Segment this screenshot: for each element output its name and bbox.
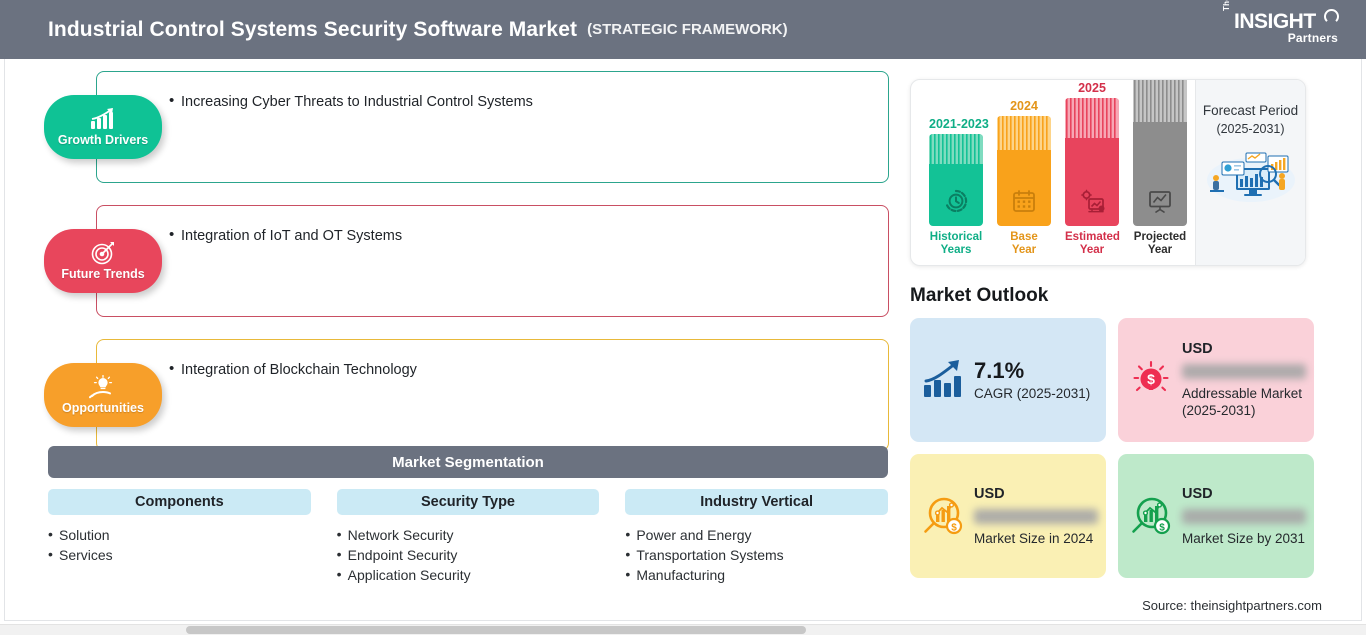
- cagr-value: 7.1%: [974, 359, 1096, 383]
- driver-row-growth: Increasing Cyber Threats to Industrial C…: [44, 71, 889, 183]
- bar-estimated-year: 2025: [1065, 81, 1119, 257]
- bar-body: [997, 116, 1051, 226]
- bar-chart-arrow-up-icon: [89, 107, 117, 131]
- forecast-period-chart: 2021-2023: [910, 79, 1306, 266]
- list-item: Integration of Blockchain Technology: [169, 360, 872, 380]
- analytics-illustration: [1202, 146, 1300, 204]
- card-caption: Market Size by 2031: [1182, 530, 1306, 547]
- driver-row-trends: Integration of IoT and OT Systems Future…: [44, 205, 889, 317]
- outlook-card-body: USD lorem ipsum Market Size in 2024: [974, 486, 1098, 547]
- bar-stripe-pattern: [1133, 79, 1187, 122]
- segmentation-chip[interactable]: Security Type: [337, 489, 600, 515]
- bar-caption: Base Year: [997, 231, 1051, 257]
- segmentation-column-industry-vertical: Industry Vertical Power and Energy Trans…: [625, 489, 888, 585]
- strategic-framework-column: Increasing Cyber Threats to Industrial C…: [44, 71, 889, 473]
- outlook-card-cagr[interactable]: 7.1% CAGR (2025-2031): [910, 318, 1106, 442]
- hidden-value: lorem ipsum: [1182, 509, 1306, 524]
- bar-year-label: 2024: [997, 99, 1051, 113]
- page-header: Industrial Control Systems Security Soft…: [0, 0, 1366, 59]
- currency-label: USD: [974, 486, 1098, 502]
- svg-text:$: $: [1159, 523, 1165, 534]
- opportunities-box: Integration of Blockchain Technology: [96, 339, 889, 451]
- bar-base-year: 2024: [997, 99, 1051, 257]
- page-subtitle: (STRATEGIC FRAMEWORK): [587, 21, 788, 38]
- bar-year-label: 2025: [1065, 81, 1119, 95]
- magnifier-chart-dollar-icon: $: [920, 493, 966, 539]
- outlook-card-addressable-market[interactable]: $ USD lorem ipsum Addressable Market (20…: [1118, 318, 1314, 442]
- magnifier-chart-dollar-icon: $: [1128, 493, 1174, 539]
- list-item: Manufacturing: [625, 565, 888, 585]
- currency-label: USD: [1182, 486, 1306, 502]
- driver-row-opportunities: Integration of Blockchain Technology: [44, 339, 889, 451]
- card-caption: Market Size in 2024: [974, 530, 1098, 547]
- segmentation-list: Power and Energy Transportation Systems …: [625, 525, 888, 585]
- growth-drivers-box: Increasing Cyber Threats to Industrial C…: [96, 71, 889, 183]
- segmentation-list: Solution Services: [48, 525, 311, 565]
- card-caption: Addressable Market (2025-2031): [1182, 385, 1306, 419]
- right-column: 2021-2023: [910, 79, 1322, 578]
- forecast-period-range: (2025-2031): [1216, 122, 1284, 136]
- list-item: Integration of IoT and OT Systems: [169, 226, 872, 246]
- lightbulb-dollar-icon: $: [1128, 357, 1174, 403]
- list-item: Endpoint Security: [337, 545, 600, 565]
- badge-growth-drivers[interactable]: Growth Drivers: [44, 95, 162, 159]
- currency-label: USD: [1182, 341, 1306, 357]
- future-trends-box: Integration of IoT and OT Systems: [96, 205, 889, 317]
- segmentation-chip[interactable]: Industry Vertical: [625, 489, 888, 515]
- bar-caption: Historical Years: [929, 231, 983, 257]
- bar-projected-year: 2031: [1133, 79, 1187, 257]
- horizontal-scrollbar-thumb[interactable]: [186, 626, 806, 634]
- badge-label: Growth Drivers: [58, 133, 148, 147]
- gear-analytics-icon: [1079, 188, 1105, 214]
- outlook-card-market-size-2024[interactable]: $ USD lorem ipsum Market Size in 2024: [910, 454, 1106, 578]
- list-item: Network Security: [337, 525, 600, 545]
- source-attribution: Source: theinsightpartners.com: [910, 598, 1322, 613]
- list-item: Power and Energy: [625, 525, 888, 545]
- segmentation-chip[interactable]: Components: [48, 489, 311, 515]
- segmentation-column-security-type: Security Type Network Security Endpoint …: [337, 489, 600, 585]
- hidden-value: lorem ipsum: [1182, 364, 1306, 379]
- outlook-card-body: USD lorem ipsum Market Size by 2031: [1182, 486, 1306, 547]
- bar-historical-years: 2021-2023: [929, 117, 983, 257]
- logo-ring-icon: [1324, 9, 1339, 24]
- outlook-cards: 7.1% CAGR (2025-2031) $ USD: [910, 318, 1318, 578]
- badge-future-trends[interactable]: Future Trends: [44, 229, 162, 293]
- cagr-caption: CAGR (2025-2031): [974, 386, 1096, 401]
- outlook-card-body: 7.1% CAGR (2025-2031): [974, 359, 1096, 401]
- segmentation-columns: Components Solution Services Security Ty…: [48, 489, 888, 585]
- forecast-bars: 2021-2023: [929, 80, 1187, 265]
- bar-body: [1133, 79, 1187, 226]
- bar-chart-growth-icon: [920, 357, 966, 403]
- page-title: Industrial Control Systems Security Soft…: [48, 18, 577, 42]
- calendar-icon: [1011, 188, 1037, 214]
- badge-label: Future Trends: [61, 267, 144, 281]
- bar-caption: Projected Year: [1133, 231, 1187, 257]
- logo-the-text: The: [1222, 0, 1231, 11]
- market-segmentation-section: Market Segmentation Components Solution …: [48, 446, 888, 585]
- hidden-value: lorem ipsum: [974, 509, 1098, 524]
- list-item: Increasing Cyber Threats to Industrial C…: [169, 92, 872, 112]
- outlook-card-market-size-2031[interactable]: $ USD lorem ipsum Market Size by 2031: [1118, 454, 1314, 578]
- bar-body: [929, 134, 983, 226]
- market-infographic-page: Industrial Control Systems Security Soft…: [0, 0, 1366, 635]
- lightbulb-in-hand-icon: [89, 375, 117, 399]
- badge-opportunities[interactable]: Opportunities: [44, 363, 162, 427]
- bar-year-label: 2021-2023: [929, 117, 983, 131]
- list-item: Application Security: [337, 565, 600, 585]
- target-dartboard-icon: [89, 241, 117, 265]
- bar-stripe-pattern: [1065, 98, 1119, 138]
- growth-drivers-list: Increasing Cyber Threats to Industrial C…: [169, 92, 872, 112]
- outlook-card-body: USD lorem ipsum Addressable Market (2025…: [1182, 341, 1306, 419]
- bar-stripe-pattern: [997, 116, 1051, 150]
- presentation-chart-icon: [1147, 188, 1173, 214]
- list-item: Solution: [48, 525, 311, 545]
- segmentation-list: Network Security Endpoint Security Appli…: [337, 525, 600, 585]
- list-item: Services: [48, 545, 311, 565]
- badge-label: Opportunities: [62, 401, 144, 415]
- bar-stripe-pattern: [929, 134, 983, 164]
- insight-partners-logo: The INSIGHT Partners: [1222, 8, 1342, 50]
- list-item: Transportation Systems: [625, 545, 888, 565]
- forecast-period-title: Forecast Period: [1203, 102, 1298, 119]
- future-trends-list: Integration of IoT and OT Systems: [169, 226, 872, 246]
- svg-text:$: $: [1147, 371, 1155, 387]
- clock-history-icon: [943, 188, 969, 214]
- market-outlook-title: Market Outlook: [910, 285, 1322, 307]
- logo-partners-text: Partners: [1288, 31, 1338, 45]
- opportunities-list: Integration of Blockchain Technology: [169, 360, 872, 380]
- forecast-period-panel: Forecast Period (2025-2031): [1195, 80, 1305, 265]
- segmentation-column-components: Components Solution Services: [48, 489, 311, 585]
- svg-text:$: $: [951, 523, 957, 534]
- bar-body: [1065, 98, 1119, 226]
- bar-caption: Estimated Year: [1065, 231, 1119, 257]
- segmentation-header: Market Segmentation: [48, 446, 888, 478]
